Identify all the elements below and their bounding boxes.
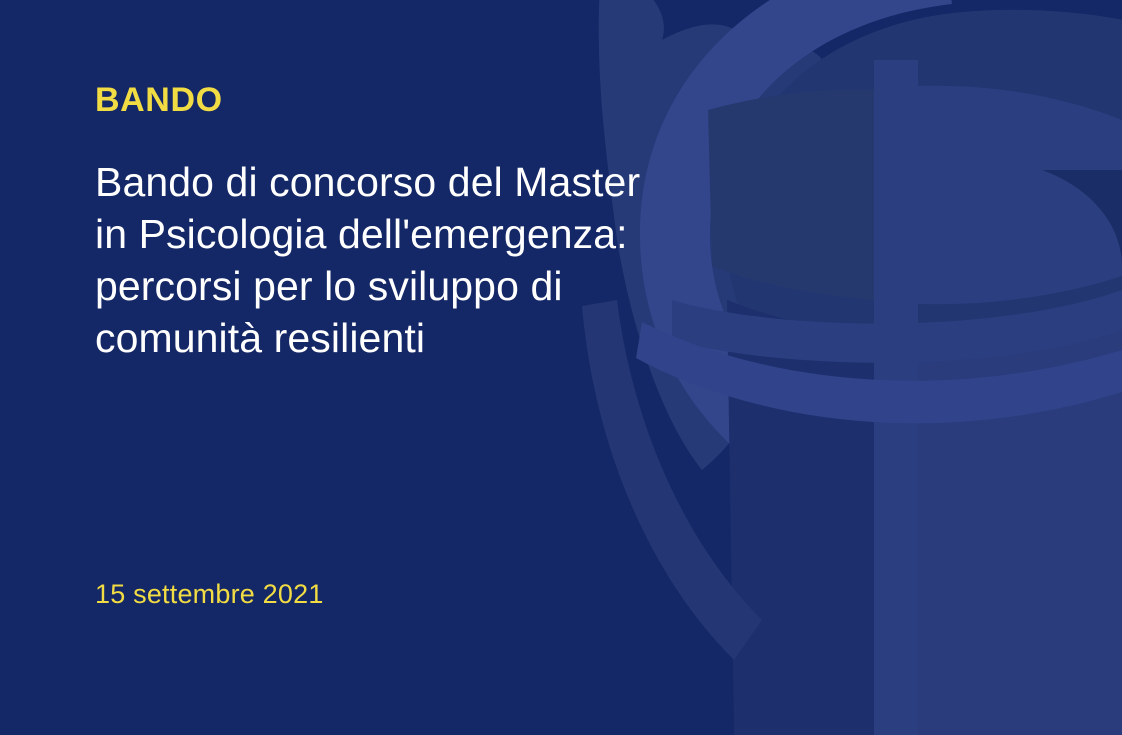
crest-cross-vertical	[874, 60, 918, 735]
crest-cross-horizontal	[672, 290, 1122, 363]
crest-panel-lower-left	[727, 300, 874, 735]
crest-lower-arc	[940, 520, 1122, 735]
crest-panel-lower-right	[918, 302, 1122, 735]
category-label: BANDO	[95, 82, 223, 119]
crest-inner-disc	[726, 10, 1122, 466]
crest-panel-upper-right	[918, 86, 1122, 304]
poster-content: BANDO Bando di concorso del Master in Ps…	[95, 0, 735, 735]
headline-line-3: percorsi per lo sviluppo di	[95, 260, 715, 312]
headline-line-1: Bando di concorso del Master	[95, 156, 715, 208]
bando-poster: BANDO Bando di concorso del Master in Ps…	[0, 0, 1122, 735]
headline-line-4: comunità resilienti	[95, 312, 715, 364]
crest-right-crescent	[1042, 170, 1122, 266]
headline-line-2: in Psicologia dell'emergenza:	[95, 208, 715, 260]
event-date: 15 settembre 2021	[95, 578, 324, 610]
page-title: Bando di concorso del Master in Psicolog…	[95, 156, 715, 364]
